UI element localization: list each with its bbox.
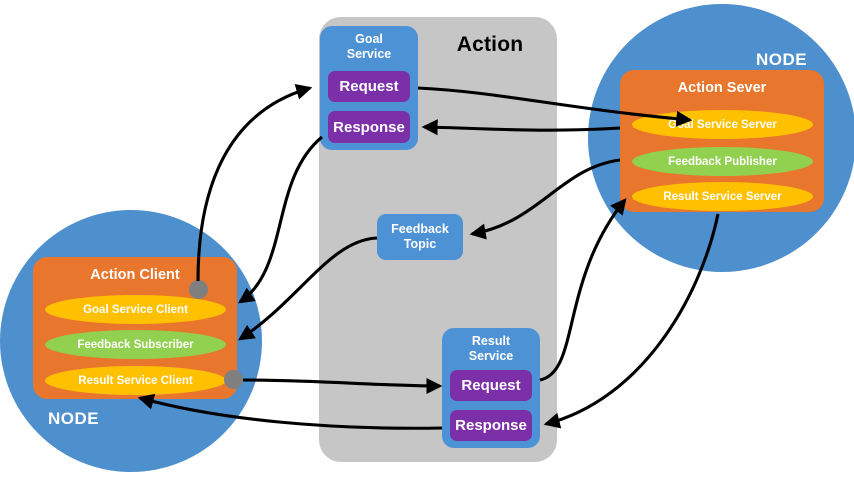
entity-feedback-subscriber[interactable]: Feedback Subscriber xyxy=(45,330,226,359)
entity-feedback-publisher[interactable]: Feedback Publisher xyxy=(632,147,813,176)
action-server-title: Action Sever xyxy=(620,80,824,96)
goal-service-request-button[interactable]: Request xyxy=(328,71,410,102)
result-service-title: Result Service xyxy=(442,334,540,364)
goal-service-title: Goal Service xyxy=(320,32,418,62)
entity-goal-service-server[interactable]: Goal Service Server xyxy=(632,110,813,139)
feedback-topic-title-line2: Topic xyxy=(391,237,449,252)
entity-result-service-server[interactable]: Result Service Server xyxy=(632,182,813,211)
goal-service-title-line2: Service xyxy=(320,47,418,62)
arrow-goal-response-to-client xyxy=(240,137,322,302)
result-service-title-line2: Service xyxy=(442,349,540,364)
connector-dot-result-client xyxy=(224,370,243,389)
entity-result-service-client[interactable]: Result Service Client xyxy=(45,366,226,395)
goal-service-response-button[interactable]: Response xyxy=(328,111,410,143)
feedback-topic-title-line1: Feedback xyxy=(391,222,449,237)
client-node-label: NODE xyxy=(48,409,99,429)
feedback-topic-title: Feedback Topic xyxy=(391,222,449,252)
result-service-request-button[interactable]: Request xyxy=(450,370,532,401)
connector-dot-goal-client xyxy=(189,280,208,299)
action-client-title: Action Client xyxy=(33,267,237,283)
goal-service-title-line1: Goal xyxy=(320,32,418,47)
result-service-response-button[interactable]: Response xyxy=(450,410,532,441)
feedback-topic-box[interactable]: Feedback Topic xyxy=(377,214,463,260)
action-panel-title: Action xyxy=(430,33,550,57)
entity-goal-service-client[interactable]: Goal Service Client xyxy=(45,295,226,324)
server-node-label: NODE xyxy=(756,50,807,70)
diagram-canvas: Action NODE Action Sever Goal Service Se… xyxy=(0,0,854,480)
result-service-title-line1: Result xyxy=(442,334,540,349)
